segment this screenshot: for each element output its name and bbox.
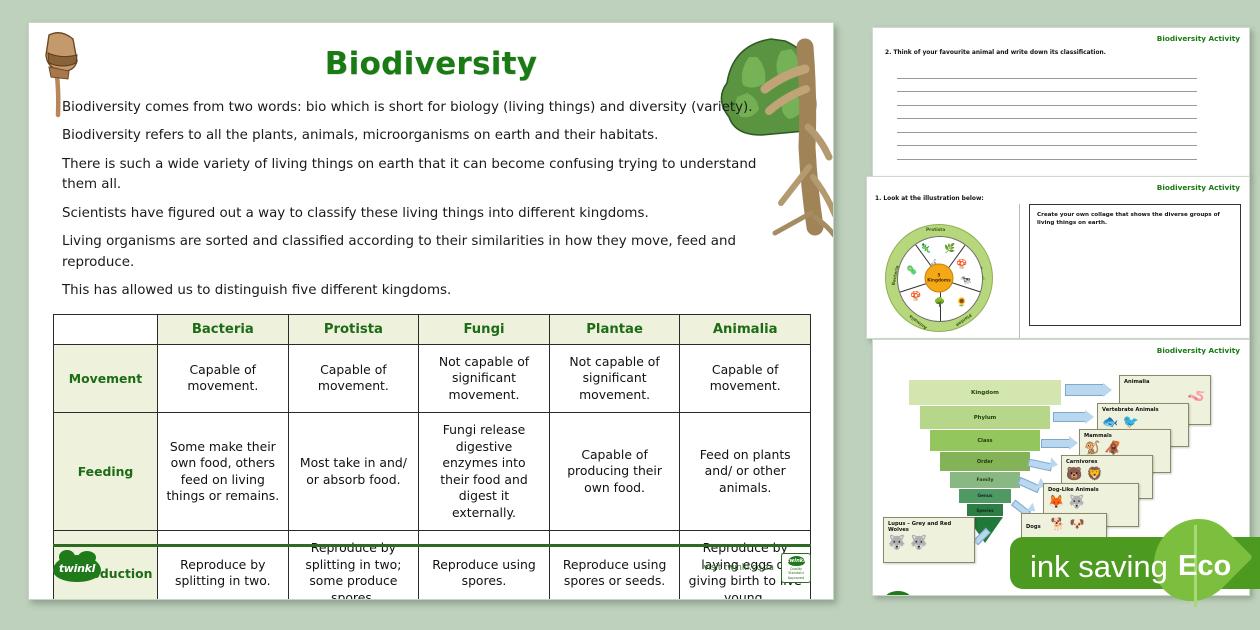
page-footer: twinkl visit twinkl.co.za twinkl Quality…	[53, 544, 811, 583]
table-corner-cell	[54, 314, 158, 344]
answer-line	[897, 79, 1197, 93]
organism-tree-icon: 🌳	[934, 299, 945, 308]
cell-feeding-fungi: Fungi release digestive enzymes into the…	[419, 413, 550, 531]
wolf-icon: 🐺 🐺	[888, 535, 970, 551]
arrow-to-animalia	[1065, 384, 1105, 396]
eco-primary-text: ink saving	[1030, 549, 1168, 585]
thumb-question-text: 2. Think of your favourite animal and wr…	[885, 50, 1249, 56]
column-header-animalia: Animalia	[680, 314, 811, 344]
monkey-icon: 🐒 🦧	[1084, 441, 1166, 456]
pyramid-level-family: Family	[950, 472, 1020, 489]
arrow-head-icon	[1069, 436, 1078, 450]
cell-movement-bacteria: Capable of movement.	[158, 344, 289, 413]
column-header-fungi: Fungi	[419, 314, 550, 344]
twinkl-logo-text: twinkl	[59, 562, 95, 575]
five-kingdoms-wheel: Protista Fungi Plantae Animalia Bacteria…	[885, 224, 993, 332]
answer-line	[897, 106, 1197, 120]
twinkl-logo-text: twinkl	[889, 595, 906, 597]
arrow-head-icon	[1085, 410, 1094, 424]
row-header-movement: Movement	[54, 344, 158, 413]
answer-lines-group	[897, 65, 1197, 160]
intro-text-block: Biodiversity comes from two words: bio w…	[62, 98, 762, 302]
activity-1-body: 1. Look at the illustration below: Proti…	[867, 192, 1249, 339]
pyramid-level-kingdom: Kingdom	[909, 380, 1061, 406]
thumb-header-label: Biodiversity Activity	[873, 28, 1249, 43]
column-header-bacteria: Bacteria	[158, 314, 289, 344]
table-header-row: Bacteria Protista Fungi Plantae Animalia	[54, 314, 811, 344]
organism-fungus-icon: 🍄	[956, 261, 967, 270]
collage-column: Create your own collage that shows the d…	[1020, 192, 1249, 339]
pyramid-level-species: Species	[967, 504, 1003, 517]
row-header-feeding: Feeding	[54, 413, 158, 531]
thumbnail-activity-2[interactable]: Biodiversity Activity 2. Think of your f…	[872, 27, 1250, 177]
pyramid-level-order: Order	[940, 452, 1030, 472]
thumb-header-label: Biodiversity Activity	[873, 340, 1249, 355]
arrow-head-icon	[1103, 383, 1112, 397]
intro-line: Biodiversity comes from two words: bio w…	[62, 98, 762, 119]
tax-card-label: Mammals	[1084, 433, 1166, 439]
badge-subtext: Quality Standard Approved	[782, 567, 810, 580]
ink-saving-eco-badge: ink saving Eco	[1010, 529, 1260, 593]
pyramid-level-genus: Genus	[959, 489, 1011, 504]
twinkl-logo: twinkl	[53, 555, 101, 582]
tax-card-label: Animalia	[1124, 379, 1206, 385]
organism-flower-icon: 🌻	[956, 299, 967, 308]
badge-twinkl-logo: twinkl	[788, 556, 805, 566]
bear-lion-icon: 🐻 🦁	[1066, 467, 1148, 482]
tax-card-label: Lupus – Grey and Red Wolves	[888, 521, 970, 533]
tax-card-label: Carnivores	[1066, 459, 1148, 465]
collage-instruction-box[interactable]: Create your own collage that shows the d…	[1029, 204, 1241, 326]
organism-protista-icon: 🦎	[920, 245, 931, 254]
cell-feeding-bacteria: Some make their own food, others feed on…	[158, 413, 289, 531]
arrow-to-mammals	[1041, 439, 1071, 448]
worksheet-page: Biodiversity Biodiversity comes from two…	[28, 22, 834, 600]
cell-feeding-plantae: Capable of producing their own food.	[549, 413, 680, 531]
quality-approved-badge: twinkl Quality Standard Approved	[781, 553, 811, 583]
thumb-question-text: 1. Look at the illustration below:	[875, 196, 1019, 202]
intro-line: Scientists have figured out a way to cla…	[62, 204, 762, 225]
pyramid-level-class: Class	[930, 430, 1040, 452]
table-row: Movement Capable of movement. Capable of…	[54, 344, 811, 413]
cell-movement-fungi: Not capable of significant movement.	[419, 344, 550, 413]
tax-card-label: Dog-Like Animals	[1048, 487, 1134, 493]
answer-line	[897, 92, 1197, 106]
illustration-column: 1. Look at the illustration below: Proti…	[867, 192, 1019, 339]
thumb-header-label: Biodiversity Activity	[867, 177, 1249, 192]
intro-line: Living organisms are sorted and classifi…	[62, 232, 762, 274]
column-header-plantae: Plantae	[549, 314, 680, 344]
answer-line	[897, 133, 1197, 147]
organism-algae-icon: 🌿	[944, 245, 955, 254]
cell-feeding-protista: Most take in and/ or absorb food.	[288, 413, 419, 531]
wheel-label-protista: Protista	[926, 228, 945, 233]
table-row: Feeding Some make their own food, others…	[54, 413, 811, 531]
intro-line: This has allowed us to distinguish five …	[62, 281, 762, 302]
page-title: Biodiversity	[29, 46, 833, 82]
cell-feeding-animalia: Feed on plants and/ or other animals.	[680, 413, 811, 531]
pyramid-level-phylum: Phylum	[920, 406, 1050, 430]
fox-wolf-icon: 🦊 🐺	[1048, 495, 1134, 510]
intro-line: There is such a wide variety of living t…	[62, 155, 762, 197]
footer-visit-url: visit twinkl.co.za	[704, 563, 774, 573]
organism-bacteria-icon: 🦠	[906, 267, 917, 276]
arrow-to-vertebrates	[1053, 412, 1087, 422]
cell-movement-protista: Capable of movement.	[288, 344, 419, 413]
tax-card-label: Vertebrate Animals	[1102, 407, 1184, 413]
cell-movement-animalia: Capable of movement.	[680, 344, 811, 413]
badge-logo-text: twinkl	[787, 558, 805, 564]
wheel-center-text: Kingdoms	[927, 278, 950, 283]
intro-line: Biodiversity refers to all the plants, a…	[62, 126, 762, 147]
tax-card-lupus: Lupus – Grey and Red Wolves 🐺 🐺	[883, 517, 975, 563]
cell-movement-plantae: Not capable of significant movement.	[549, 344, 680, 413]
answer-line	[897, 146, 1197, 160]
organism-mushroom-icon: 🍄	[910, 293, 921, 302]
answer-line	[897, 65, 1197, 79]
thumbnail-activity-1[interactable]: Biodiversity Activity 1. Look at the ill…	[866, 176, 1250, 339]
fish-bird-icon: 🐟 🐦	[1102, 415, 1184, 430]
eco-secondary-text: Eco	[1178, 550, 1231, 583]
answer-line	[897, 119, 1197, 133]
organism-cow-icon: 🐄	[960, 277, 971, 286]
column-header-protista: Protista	[288, 314, 419, 344]
wheel-center-label: 5 Kingdoms	[925, 264, 954, 293]
twinkl-logo: twinkl	[885, 591, 911, 596]
